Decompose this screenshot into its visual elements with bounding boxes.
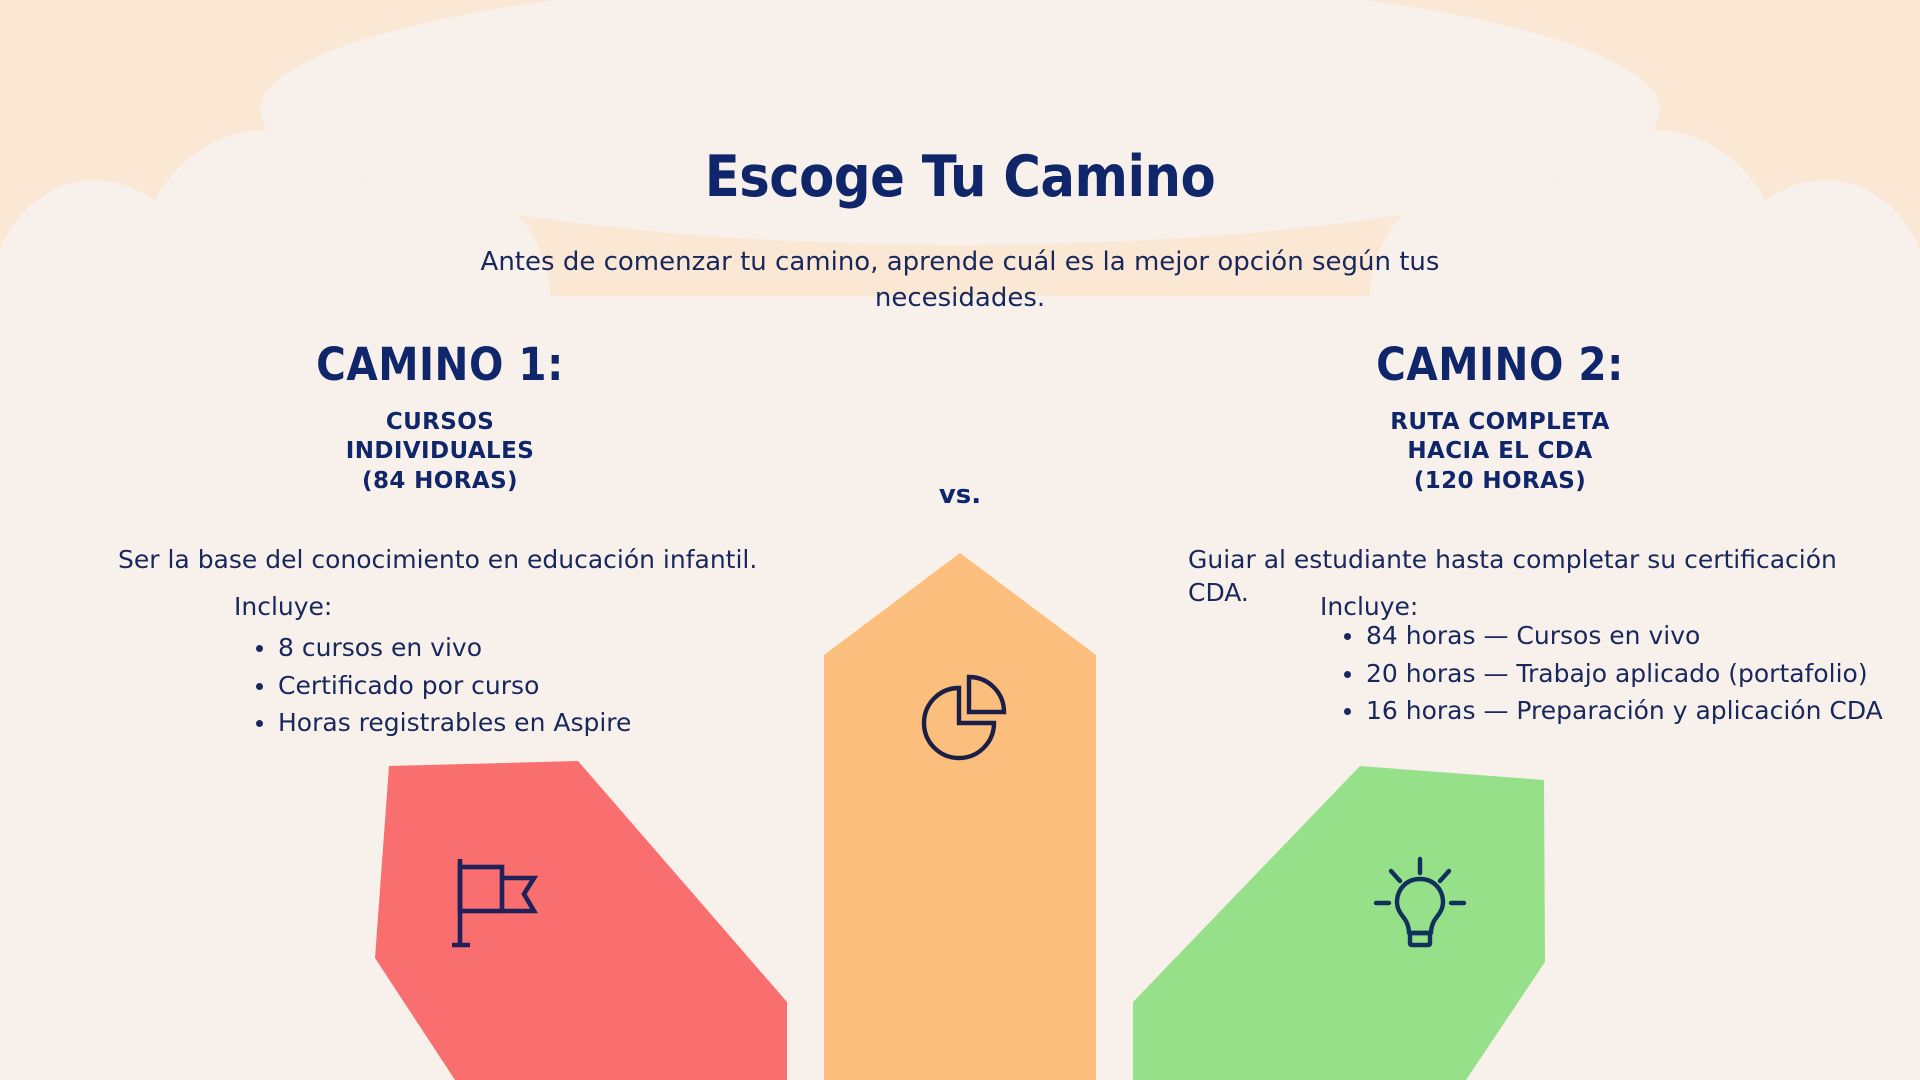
path-1-description: Ser la base del conocimiento en educació… (118, 544, 798, 577)
list-item: 16 horas — Preparación y aplicación CDA (1336, 693, 1916, 730)
path-2-subtitle-line-2: HACIA EL CDA (1240, 437, 1760, 466)
list-item: 20 horas — Trabajo aplicado (portafolio) (1336, 656, 1916, 693)
path-2-subtitle: RUTA COMPLETA HACIA EL CDA (120 HORAS) (1240, 408, 1760, 496)
path-1-subtitle: CURSOS INDIVIDUALES (84 HORAS) (180, 408, 700, 496)
path-2-description: Guiar al estudiante hasta completar su c… (1188, 544, 1900, 609)
lightbulb-icon (1372, 855, 1468, 951)
list-item: Horas registrables en Aspire (248, 705, 868, 742)
path-1-subtitle-line-3: (84 HORAS) (180, 467, 700, 496)
path-1-title: CAMINO 1: (130, 338, 750, 391)
path-1-subtitle-line-2: INDIVIDUALES (180, 437, 700, 466)
list-item: Certificado por curso (248, 668, 868, 705)
path-1-subtitle-line-1: CURSOS (180, 408, 700, 437)
page-subtitle: Antes de comenzar tu camino, aprende cuá… (460, 245, 1460, 317)
path-2-feature-list: 84 horas — Cursos en vivo 20 horas — Tra… (1336, 618, 1916, 731)
pie-chart-icon (912, 665, 1010, 761)
flag-icon (452, 855, 544, 951)
page-title: Escoge Tu Camino (0, 144, 1920, 210)
path-2-title: CAMINO 2: (1190, 338, 1810, 391)
path-1-feature-list: 8 cursos en vivo Certificado por curso H… (248, 630, 868, 743)
versus-label: vs. (880, 480, 1040, 510)
path-2-subtitle-line-1: RUTA COMPLETA (1240, 408, 1760, 437)
path-1-includes-label: Incluye: (234, 592, 332, 621)
path-2-includes-label: Incluye: (1320, 592, 1418, 621)
path-2-subtitle-line-3: (120 HORAS) (1240, 467, 1760, 496)
list-item: 84 horas — Cursos en vivo (1336, 618, 1916, 655)
list-item: 8 cursos en vivo (248, 630, 868, 667)
